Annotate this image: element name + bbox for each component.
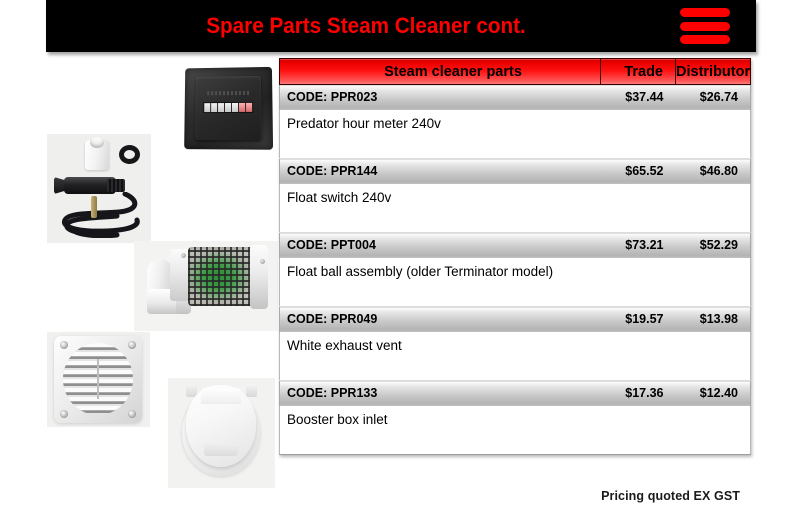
exhaust-vent-screw — [60, 341, 68, 349]
exhaust-vent-grille — [63, 343, 133, 415]
float-switch-cable-tie — [91, 196, 97, 218]
hamburger-bar-2 — [680, 22, 730, 31]
float-ball-screw — [260, 259, 265, 264]
booster-box-inlet-photo — [168, 378, 275, 488]
float-ball-screw — [181, 253, 186, 258]
hour-meter-digit — [239, 102, 246, 111]
hour-meter-digit — [232, 103, 239, 112]
exhaust-vent-screw — [60, 410, 68, 418]
hamburger-bar-1 — [680, 8, 730, 17]
hour-meter-housing — [184, 67, 273, 150]
booster-inlet-bottom-tab — [204, 444, 238, 456]
distributor-price: $52.29 — [676, 233, 751, 258]
part-description: White exhaust vent — [280, 332, 751, 381]
trade-price: $65.52 — [601, 159, 676, 184]
table-row[interactable]: CODE: PPR133 $17.36 $12.40 — [280, 381, 751, 406]
exhaust-vent-screw — [128, 341, 136, 349]
table-row[interactable]: Float ball assembly (older Terminator mo… — [280, 258, 751, 307]
predator-hour-meter-photo — [175, 62, 282, 154]
table-row[interactable]: Float switch 240v — [280, 184, 751, 233]
table-row[interactable]: CODE: PPR023 $37.44 $26.74 — [280, 85, 751, 110]
table-row[interactable]: CODE: PPT004 $73.21 $52.29 — [280, 233, 751, 258]
float-switch-cable — [59, 192, 143, 238]
part-code: CODE: PPR133 — [280, 381, 601, 406]
hour-meter-digit — [218, 103, 225, 112]
part-code: CODE: PPR144 — [280, 159, 601, 184]
part-code: CODE: PPT004 — [280, 233, 601, 258]
part-description: Booster box inlet — [280, 406, 751, 455]
table-header-row: Steam cleaner parts Trade Distributor — [280, 59, 751, 85]
table-row[interactable]: Predator hour meter 240v — [280, 110, 751, 159]
hamburger-menu-icon[interactable] — [680, 7, 730, 45]
hour-meter-digit — [211, 103, 218, 112]
float-switch-collar — [107, 179, 125, 192]
trade-price: $73.21 — [601, 233, 676, 258]
exhaust-vent-screw — [128, 410, 136, 418]
trade-price: $37.44 — [601, 85, 676, 110]
distributor-price: $26.74 — [676, 85, 751, 110]
hour-meter-digit — [225, 103, 232, 112]
hour-meter-digit — [246, 102, 252, 111]
part-code: CODE: PPR049 — [280, 307, 601, 332]
trade-price: $19.57 — [601, 307, 676, 332]
column-header-trade: Trade — [601, 59, 676, 85]
column-header-distributor: Distributor — [676, 59, 751, 85]
hour-meter-faceplate — [195, 76, 262, 141]
hour-meter-brand-mark — [207, 91, 249, 95]
exhaust-vent-center-rib — [97, 359, 99, 399]
column-header-parts: Steam cleaner parts — [280, 59, 601, 85]
trade-price: $17.36 — [601, 381, 676, 406]
booster-inlet-cover — [186, 385, 256, 467]
distributor-price: $13.98 — [676, 307, 751, 332]
spare-parts-table: Steam cleaner parts Trade Distributor CO… — [279, 58, 751, 455]
white-exhaust-vent-photo — [47, 332, 150, 427]
part-code: CODE: PPR023 — [280, 85, 601, 110]
float-ball-end-cap — [250, 245, 268, 309]
float-ball-mesh-screen — [188, 247, 256, 306]
distributor-price: $46.80 — [676, 159, 751, 184]
float-ball-assembly-photo — [134, 241, 278, 331]
booster-inlet-top-tab — [201, 388, 241, 404]
distributor-price: $12.40 — [676, 381, 751, 406]
hour-meter-digit — [204, 103, 211, 112]
hamburger-bar-3 — [680, 35, 730, 44]
part-description: Float switch 240v — [280, 184, 751, 233]
part-description: Float ball assembly (older Terminator mo… — [280, 258, 751, 307]
float-switch-o-ring — [119, 145, 140, 164]
hour-meter-digit-display — [203, 101, 253, 112]
table-row[interactable]: CODE: PPR144 $65.52 $46.80 — [280, 159, 751, 184]
float-switch-white-fitting — [85, 140, 109, 170]
table-row[interactable]: Booster box inlet — [280, 406, 751, 455]
page-header-bar: Spare Parts Steam Cleaner cont. — [46, 0, 756, 52]
exhaust-vent-plate — [54, 336, 142, 423]
part-description: Predator hour meter 240v — [280, 110, 751, 159]
table-row[interactable]: CODE: PPR049 $19.57 $13.98 — [280, 307, 751, 332]
table-row[interactable]: White exhaust vent — [280, 332, 751, 381]
float-switch-photo — [47, 134, 151, 243]
page-title: Spare Parts Steam Cleaner cont. — [65, 0, 667, 52]
pricing-note: Pricing quoted EX GST — [601, 489, 740, 503]
booster-inlet-notch-right — [246, 384, 257, 397]
